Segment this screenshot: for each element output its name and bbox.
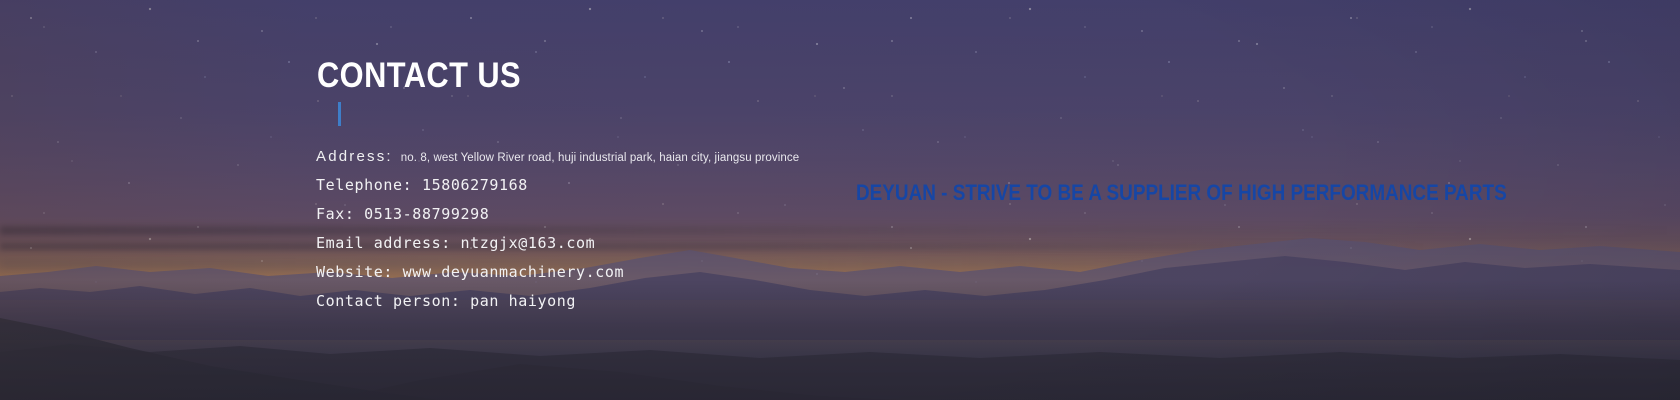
contact-row-email[interactable]: Email address: ntzgjx@163.com — [316, 229, 1016, 258]
fax-line: Fax: 0513-88799298 — [316, 205, 489, 223]
company-slogan: DEYUAN - STRIVE TO BE A SUPPLIER OF HIGH… — [856, 182, 1507, 204]
address-label: Address: — [316, 148, 393, 165]
contact-row-address: Address:no. 8, west Yellow River road, h… — [316, 142, 1016, 171]
address-value: no. 8, west Yellow River road, huji indu… — [401, 152, 799, 164]
contact-details-list: Address:no. 8, west Yellow River road, h… — [316, 142, 1016, 316]
heading-accent-rule — [338, 102, 341, 126]
email-line[interactable]: Email address: ntzgjx@163.com — [316, 234, 595, 252]
contact-us-heading: CONTACT US — [317, 58, 521, 93]
contact-person-line: Contact person: pan haiyong — [316, 292, 576, 310]
contact-row-contact-person: Contact person: pan haiyong — [316, 287, 1016, 316]
telephone-line: Telephone: 15806279168 — [316, 176, 528, 194]
banner-content: CONTACT US Address:no. 8, west Yellow Ri… — [0, 0, 1680, 400]
website-line[interactable]: Website: www.deyuanmachinery.com — [316, 263, 624, 281]
contact-banner: CONTACT US Address:no. 8, west Yellow Ri… — [0, 0, 1680, 400]
contact-row-website[interactable]: Website: www.deyuanmachinery.com — [316, 258, 1016, 287]
